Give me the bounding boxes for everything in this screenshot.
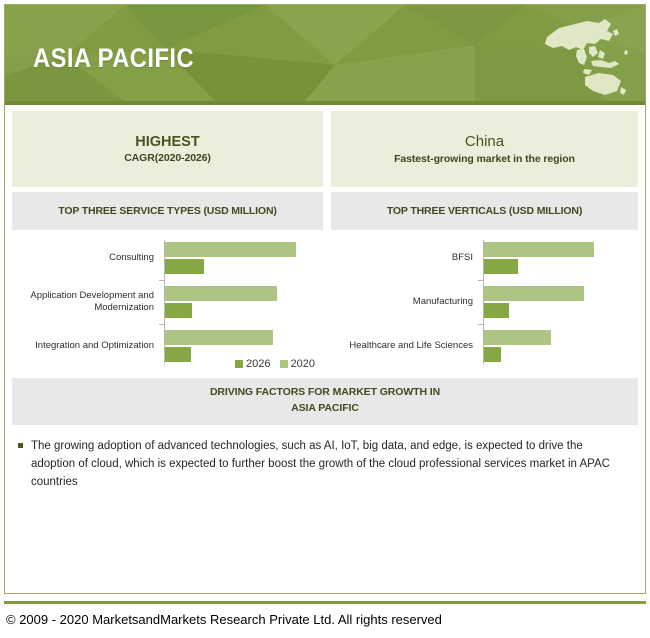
infographic-root: ASIA PACIFIC HIGHEST CAGR(2020-2026) Chi… bbox=[0, 0, 650, 638]
region-title: ASIA PACIFIC bbox=[33, 43, 194, 74]
category-label: Integration and Optimization bbox=[14, 340, 160, 352]
bar-2020 bbox=[165, 259, 204, 274]
summary-card-right: China Fastest-growing market in the regi… bbox=[331, 111, 638, 187]
bar-group: BFSI bbox=[331, 242, 638, 274]
category-label: Manufacturing bbox=[333, 296, 479, 308]
footer-rule bbox=[4, 601, 646, 604]
driving-factors-title-line1: DRIVING FACTORS FOR MARKET GROWTH IN bbox=[12, 385, 638, 401]
bar-group: Healthcare and Life Sciences bbox=[331, 330, 638, 362]
bar-2026 bbox=[484, 330, 551, 345]
left-card-heading: HIGHEST bbox=[135, 134, 199, 151]
bar-2020 bbox=[484, 303, 509, 318]
bar-group: Manufacturing bbox=[331, 286, 638, 318]
driving-factors-body: The growing adoption of advanced technol… bbox=[12, 425, 638, 492]
right-chart-title-band: TOP THREE VERTICALS (USD MILLION) bbox=[331, 192, 638, 230]
bar-2020 bbox=[484, 259, 518, 274]
bar-group: Application Development and Modernizatio… bbox=[12, 286, 323, 318]
driving-factor-bullet: The growing adoption of advanced technol… bbox=[18, 437, 624, 492]
bar-group: Integration and Optimization bbox=[12, 330, 323, 362]
bar-2026 bbox=[484, 242, 594, 257]
charts-row: 2026 2020 ConsultingApplication Developm… bbox=[12, 234, 638, 372]
bar-group: Consulting bbox=[12, 242, 323, 274]
bullet-marker-icon bbox=[18, 443, 23, 448]
category-label: Healthcare and Life Sciences bbox=[333, 340, 479, 352]
bar-2026 bbox=[165, 286, 277, 301]
right-card-heading: China bbox=[465, 133, 504, 150]
category-label: BFSI bbox=[333, 252, 479, 264]
header-banner: ASIA PACIFIC bbox=[5, 5, 645, 101]
bar-2020 bbox=[165, 347, 191, 362]
axis-tick bbox=[159, 280, 164, 281]
right-card-subheading: Fastest-growing market in the region bbox=[394, 153, 575, 165]
axis-tick bbox=[478, 324, 483, 325]
category-label: Consulting bbox=[14, 252, 160, 264]
axis-tick bbox=[159, 324, 164, 325]
asia-pacific-map-icon bbox=[529, 17, 633, 97]
bar-2020 bbox=[484, 347, 501, 362]
summary-card-row: HIGHEST CAGR(2020-2026) China Fastest-gr… bbox=[12, 111, 638, 187]
bar-2020 bbox=[165, 303, 192, 318]
copyright-text: © 2009 - 2020 MarketsandMarkets Research… bbox=[6, 612, 442, 627]
bar-2026 bbox=[484, 286, 584, 301]
panels-container: HIGHEST CAGR(2020-2026) China Fastest-gr… bbox=[12, 111, 638, 492]
left-card-subheading: CAGR(2020-2026) bbox=[124, 152, 211, 164]
left-chart-title: TOP THREE SERVICE TYPES (USD MILLION) bbox=[58, 205, 276, 217]
right-chart-title: TOP THREE VERTICALS (USD MILLION) bbox=[387, 205, 582, 217]
verticals-bar-chart: BFSIManufacturingHealthcare and Life Sci… bbox=[331, 234, 638, 372]
driving-factors-title-line2: ASIA PACIFIC bbox=[12, 401, 638, 417]
bar-2026 bbox=[165, 242, 296, 257]
banner-bottom-rule bbox=[5, 101, 645, 105]
left-chart-title-band: TOP THREE SERVICE TYPES (USD MILLION) bbox=[12, 192, 323, 230]
bar-2026 bbox=[165, 330, 273, 345]
driving-factors-title-band: DRIVING FACTORS FOR MARKET GROWTH IN ASI… bbox=[12, 378, 638, 425]
category-label: Application Development and Modernizatio… bbox=[14, 290, 160, 314]
service-types-bar-chart: 2026 2020 ConsultingApplication Developm… bbox=[12, 234, 323, 372]
driving-factor-text: The growing adoption of advanced technol… bbox=[31, 437, 624, 492]
axis-tick bbox=[478, 280, 483, 281]
summary-card-left: HIGHEST CAGR(2020-2026) bbox=[12, 111, 323, 187]
chart-title-row: TOP THREE SERVICE TYPES (USD MILLION) TO… bbox=[12, 187, 638, 230]
